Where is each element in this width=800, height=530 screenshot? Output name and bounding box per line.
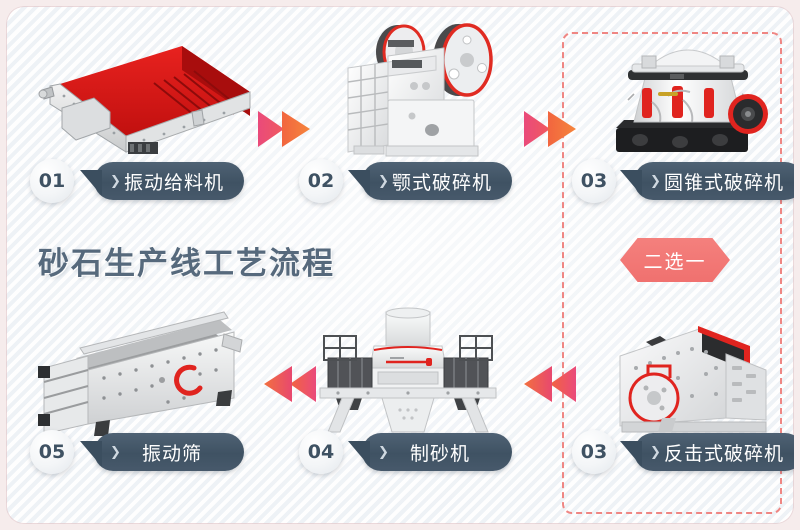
step-badge-03-impact: 03 [572, 430, 616, 474]
pill-tail [348, 441, 370, 467]
step-label-03-impact[interactable]: ❯ 反击式破碎机 [634, 433, 794, 471]
machine-cone-crusher [598, 28, 778, 166]
step-label-text-05: 振动筛 [124, 439, 202, 466]
step-badge-04: 04 [299, 430, 343, 474]
machine-jaw-crusher [336, 20, 521, 168]
flowchart-canvas: 01 ❯ 振动给料机 02 ❯ 颚式破碎机 03 ❯ 圆锥式破碎机 03 ❯ 反… [0, 0, 800, 530]
machine-vibrating-feeder [32, 24, 262, 164]
arrow-sandmaker-to-screen [262, 361, 326, 412]
step-label-text-04: 制砂机 [392, 439, 470, 466]
step-label-text-01: 振动给料机 [124, 168, 224, 195]
step-label-text-03-cone: 圆锥式破碎机 [664, 168, 784, 195]
diagram-frame: 01 ❯ 振动给料机 02 ❯ 颚式破碎机 03 ❯ 圆锥式破碎机 03 ❯ 反… [6, 6, 794, 524]
step-label-text-02: 颚式破碎机 [392, 168, 492, 195]
arrow-impact-to-sandmaker [522, 361, 586, 412]
chevron-right-icon: ❯ [650, 444, 662, 460]
chevron-right-icon: ❯ [378, 444, 390, 460]
chevron-right-icon: ❯ [110, 173, 122, 189]
step-badge-01: 01 [30, 159, 74, 203]
pill-tail [348, 170, 370, 196]
step-label-05[interactable]: ❯ 振动筛 [94, 433, 244, 471]
chevron-right-icon: ❯ [378, 173, 390, 189]
chevron-right-icon: ❯ [110, 444, 122, 460]
machine-sand-making-machine [308, 306, 508, 438]
chevron-right-icon: ❯ [650, 173, 662, 189]
page-title: 砂石生产线工艺流程 [38, 238, 335, 283]
step-label-text-03-impact: 反击式破碎机 [664, 439, 784, 466]
machine-vibrating-screen [28, 306, 260, 438]
step-badge-03-cone: 03 [572, 159, 616, 203]
arrow-feeder-to-jaw [256, 106, 320, 157]
two-choose-one-label: 二选一 [643, 247, 706, 274]
pill-tail [620, 441, 642, 467]
machine-impact-crusher [606, 308, 786, 440]
two-choose-one-badge: 二选一 [620, 238, 730, 282]
step-label-02[interactable]: ❯ 颚式破碎机 [362, 162, 512, 200]
step-badge-05: 05 [30, 430, 74, 474]
pill-tail [80, 441, 102, 467]
pill-tail [80, 170, 102, 196]
pill-tail [620, 170, 642, 196]
step-badge-02: 02 [299, 159, 343, 203]
step-label-04[interactable]: ❯ 制砂机 [362, 433, 512, 471]
step-label-03-cone[interactable]: ❯ 圆锥式破碎机 [634, 162, 794, 200]
arrow-jaw-to-cone [522, 106, 586, 157]
step-label-01[interactable]: ❯ 振动给料机 [94, 162, 244, 200]
